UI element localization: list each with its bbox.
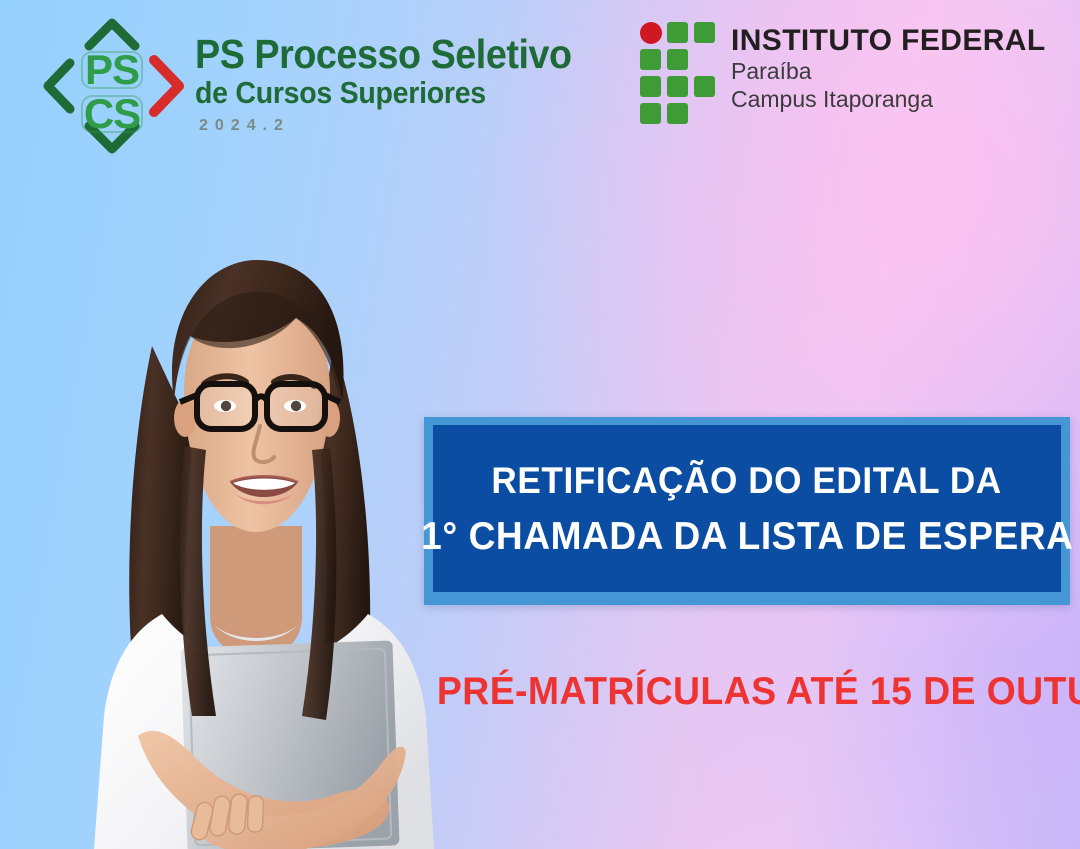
poster-canvas: PS CS PS Processo Seletivo de Cursos Sup… <box>0 0 1080 849</box>
instituto-federal-title: INSTITUTO FEDERAL <box>731 24 1046 57</box>
announcement-line-1: RETIFICAÇÃO DO EDITAL DA <box>492 453 1002 508</box>
svg-text:CS: CS <box>84 90 140 137</box>
header: PS CS PS Processo Seletivo de Cursos Sup… <box>0 0 1080 175</box>
pscs-title-line1: PS Processo Seletivo <box>195 32 572 76</box>
pscs-year-label: 2024.2 <box>199 117 604 135</box>
pscs-diamond-logo-icon: PS CS <box>34 16 189 156</box>
instituto-federal-state: Paraíba <box>731 57 1046 85</box>
announcement-line-2: 1° CHAMADA DA LISTA DE ESPERA <box>421 508 1073 565</box>
deadline-callout: PRÉ-MATRÍCULAS ATÉ 15 DE OUTUBRO <box>437 668 1057 716</box>
instituto-federal-campus: Campus Itaporanga <box>731 85 1046 113</box>
pscs-title-line2: de Cursos Superiores <box>195 76 572 110</box>
svg-text:PS: PS <box>85 46 139 93</box>
instituto-federal-title-group: INSTITUTO FEDERAL Paraíba Campus Itapora… <box>731 22 1046 113</box>
pscs-logo-lockup: PS CS PS Processo Seletivo de Cursos Sup… <box>34 16 604 156</box>
announcement-banner: RETIFICAÇÃO DO EDITAL DA 1° CHAMADA DA L… <box>424 417 1070 605</box>
instituto-federal-blocks-logo-icon <box>640 22 716 126</box>
instituto-federal-logo-lockup: INSTITUTO FEDERAL Paraíba Campus Itapora… <box>640 22 1046 126</box>
announcement-banner-inner: RETIFICAÇÃO DO EDITAL DA 1° CHAMADA DA L… <box>433 425 1061 592</box>
pscs-title-group: PS Processo Seletivo de Cursos Superiore… <box>195 16 604 135</box>
